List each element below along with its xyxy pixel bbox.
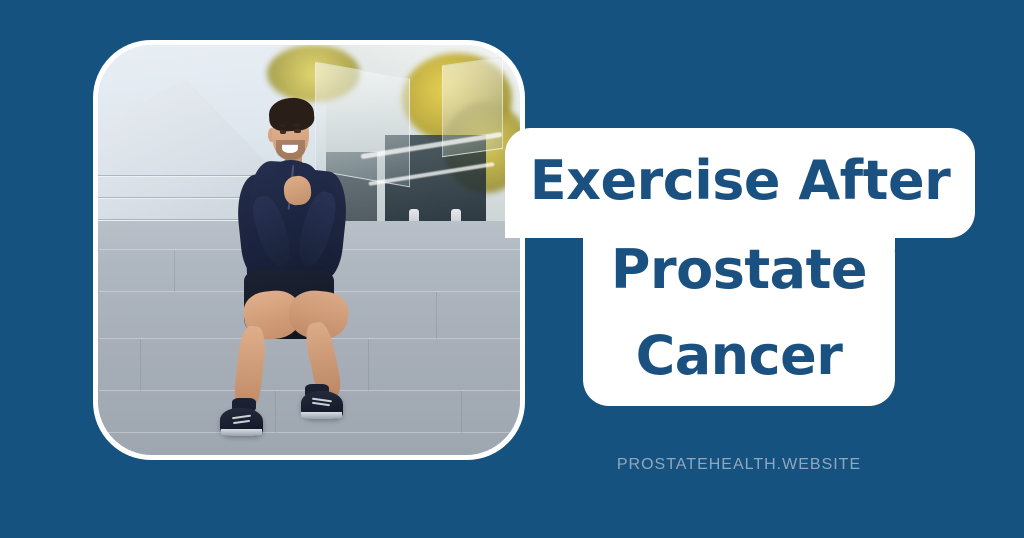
right-shoe bbox=[301, 391, 344, 419]
eye bbox=[280, 130, 286, 134]
left-shoe bbox=[220, 408, 263, 436]
photo-card bbox=[93, 40, 525, 460]
person-squatting bbox=[182, 98, 418, 442]
photo-image bbox=[98, 45, 520, 455]
eyebrow bbox=[293, 123, 301, 126]
page-title-line-3: Cancer bbox=[583, 325, 895, 387]
photo-scene bbox=[98, 45, 520, 455]
social-banner: Exercise After Prostate Cancer PROSTATEH… bbox=[0, 0, 1024, 538]
website-url: PROSTATEHEALTH.WEBSITE bbox=[583, 456, 895, 474]
hair bbox=[268, 97, 315, 133]
eye bbox=[294, 129, 300, 133]
left-shin bbox=[232, 324, 266, 409]
page-title-line-1: Exercise After bbox=[505, 150, 975, 212]
page-title-line-2: Prostate bbox=[583, 239, 895, 301]
smile bbox=[282, 144, 299, 153]
